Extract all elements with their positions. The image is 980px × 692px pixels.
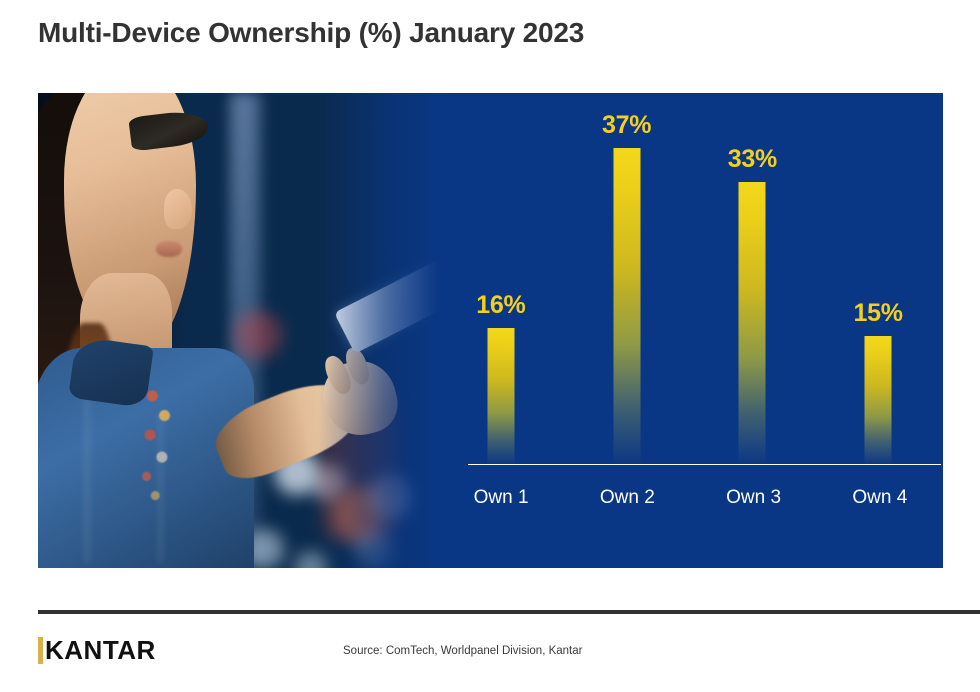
plot-area: 16%37%33%15% <box>438 105 941 465</box>
logo-text: KANTAR <box>45 637 156 664</box>
bar-group: 15% <box>815 105 941 465</box>
bar <box>613 148 640 465</box>
bar-group: 33% <box>690 105 816 465</box>
x-axis-tick-label: Own 3 <box>691 487 817 509</box>
bar-value-label: 15% <box>854 299 903 328</box>
bar <box>865 336 892 465</box>
bar-value-label: 16% <box>476 291 525 320</box>
x-axis-line <box>468 464 941 466</box>
x-axis-tick-label: Own 4 <box>817 487 943 509</box>
bar-group: 16% <box>438 105 564 465</box>
kantar-logo: KANTAR <box>38 637 156 664</box>
photo-lips <box>156 241 182 257</box>
logo-accent-bar <box>38 637 43 664</box>
footer-divider <box>38 610 980 614</box>
photo-shirt-fold <box>84 393 94 563</box>
photo-blend-overlay <box>318 93 438 568</box>
source-note: Source: ComTech, Worldpanel Division, Ka… <box>343 645 582 657</box>
bar-value-label: 37% <box>602 111 651 140</box>
bar <box>739 182 766 465</box>
bar-chart: 16%37%33%15% Own 1Own 2Own 3Own 4 <box>438 93 943 568</box>
bokeh-light <box>234 311 282 359</box>
x-axis-tick-label: Own 2 <box>564 487 690 509</box>
bar-value-label: 33% <box>728 145 777 174</box>
bar <box>487 328 514 465</box>
bar-group: 37% <box>564 105 690 465</box>
chart-panel: 16%37%33%15% Own 1Own 2Own 3Own 4 <box>38 93 943 568</box>
photo-nose <box>164 189 192 229</box>
hero-photo <box>38 93 438 568</box>
page-title: Multi-Device Ownership (%) January 2023 <box>38 17 584 49</box>
x-axis-tick-label: Own 1 <box>438 487 564 509</box>
